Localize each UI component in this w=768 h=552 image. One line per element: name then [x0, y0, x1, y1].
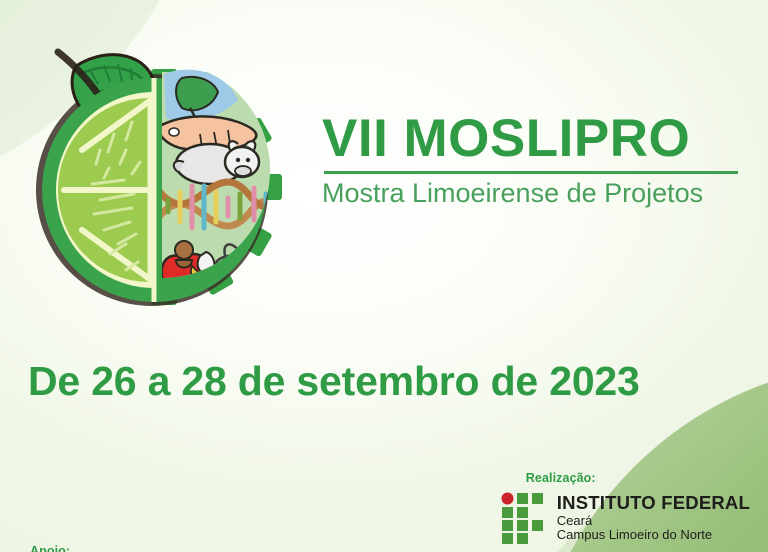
footer: Apoio: CNPq MINISTÉRIO DA [0, 442, 768, 552]
instituto-federal-state: Ceará [557, 514, 750, 529]
instituto-federal-name: INSTITUTO FEDERAL [557, 493, 750, 514]
moslipro-emblem [14, 22, 314, 332]
page-subtitle: Mostra Limoeirense de Projetos [322, 178, 752, 209]
realizacao-label: Realização: [526, 471, 750, 485]
event-date: De 26 a 28 de setembro de 2023 [28, 358, 640, 405]
instituto-federal-text: INSTITUTO FEDERAL Ceará Campus Limoeiro … [557, 493, 750, 543]
instituto-federal-logo: INSTITUTO FEDERAL Ceará Campus Limoeiro … [500, 492, 750, 544]
instituto-federal-dot [501, 493, 513, 505]
title-underline [324, 171, 738, 174]
instituto-federal-campus: Campus Limoeiro do Norte [557, 528, 750, 543]
realizacao-group: Realização: [500, 471, 750, 544]
title-block: VII MOSLIPRO Mostra Limoeirense de Proje… [322, 112, 752, 209]
apoio-label: Apoio: [30, 544, 70, 552]
instituto-federal-mark-icon [500, 492, 548, 544]
poster-canvas: VII MOSLIPRO Mostra Limoeirense de Proje… [0, 0, 768, 552]
page-title: VII MOSLIPRO [322, 112, 752, 166]
